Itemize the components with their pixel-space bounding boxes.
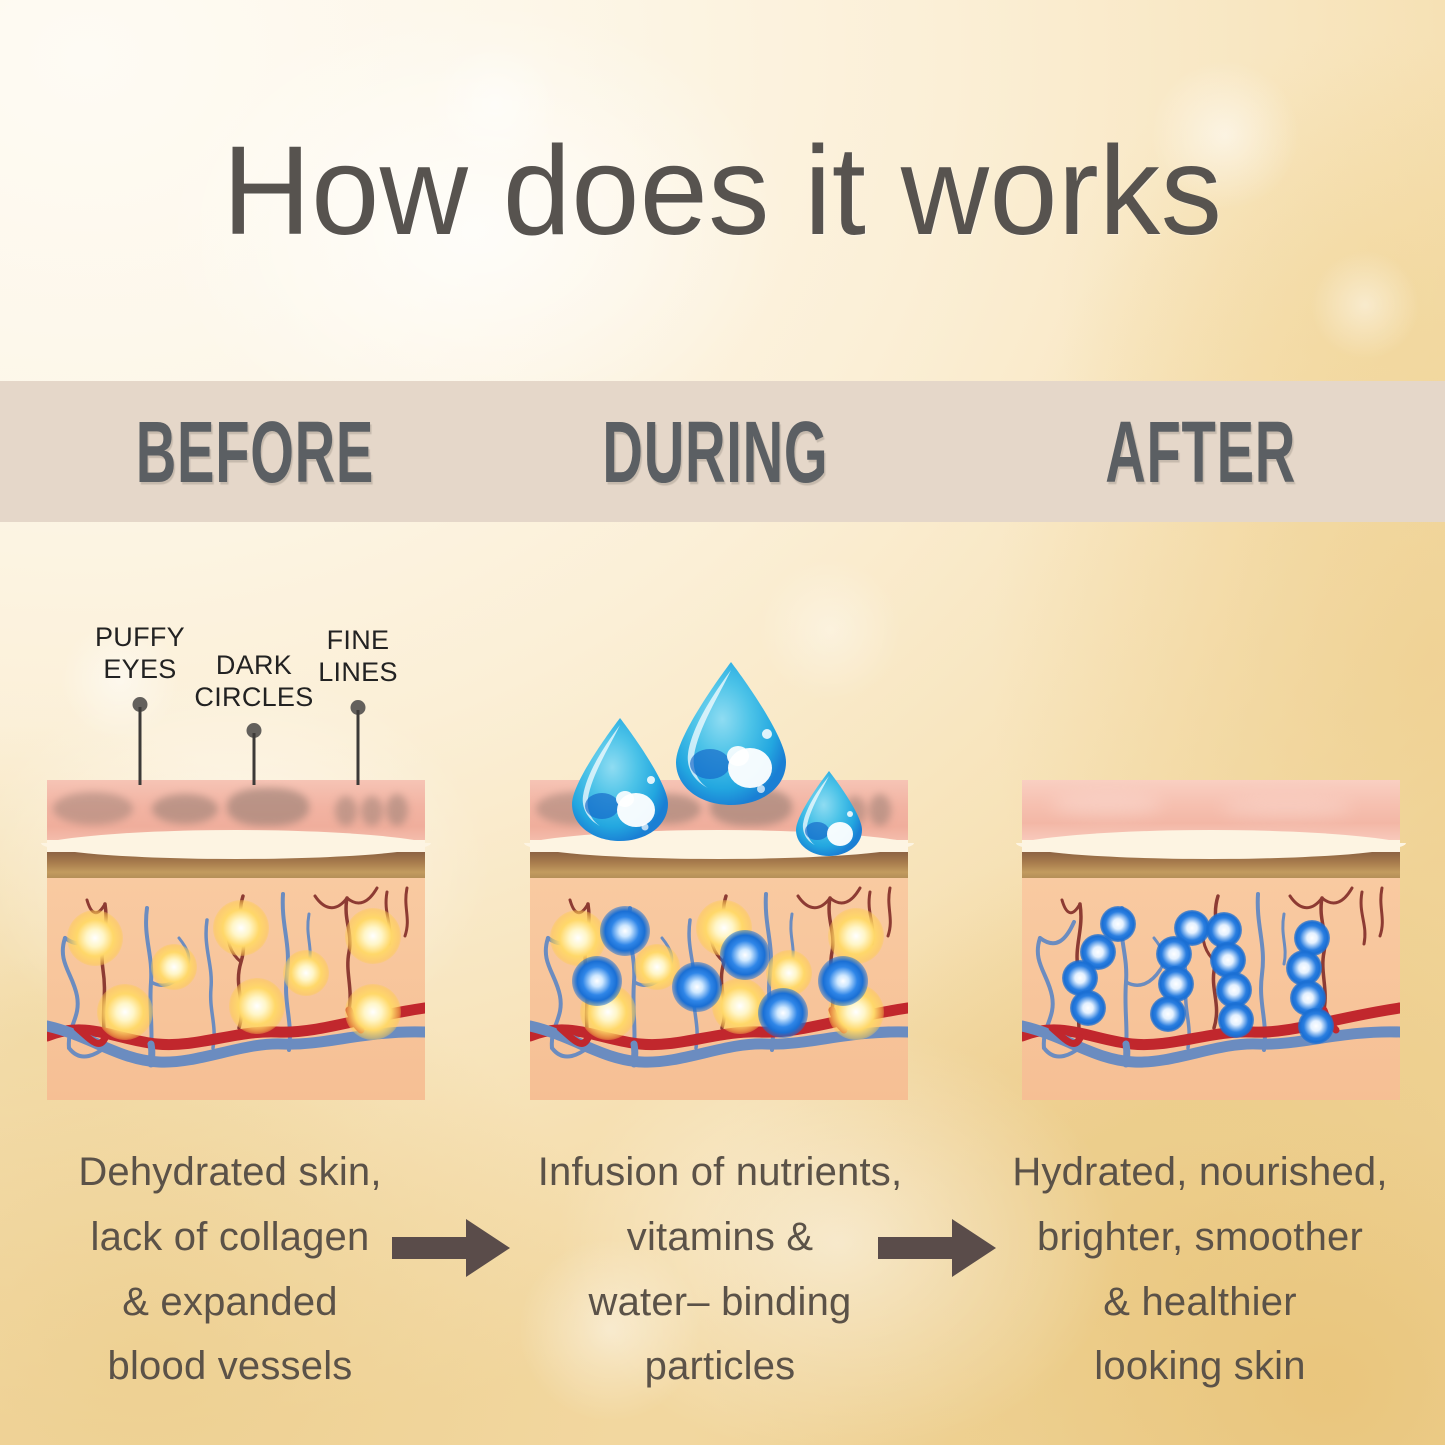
page-title: How does it works: [223, 128, 1223, 254]
epidermis-blemish: [386, 794, 408, 826]
title-area: How does it works: [0, 0, 1445, 381]
nutrient-particle: [758, 988, 808, 1038]
callout-dark-circles-line: [253, 733, 256, 785]
dermis-layer-before: [47, 878, 425, 1100]
arrow-during-to-after-icon: [878, 1215, 998, 1281]
hydration-bead: [1070, 990, 1106, 1026]
collagen-glow: [345, 908, 401, 964]
collagen-glow: [345, 984, 401, 1040]
caption-before-line: blood vessels: [20, 1334, 440, 1399]
caption-during: Infusion of nutrients, vitamins & water–…: [500, 1140, 940, 1399]
basal-band-after: [1022, 852, 1400, 880]
caption-during-line: particles: [500, 1334, 940, 1399]
callout-fine-lines-line: [357, 710, 360, 785]
epidermis-blemish: [227, 788, 309, 826]
caption-after-line: Hydrated, nourished,: [975, 1140, 1425, 1205]
caption-during-line: Infusion of nutrients,: [500, 1140, 940, 1205]
epidermis-layer-after: [1022, 780, 1400, 840]
caption-after-line: brighter, smoother: [975, 1205, 1425, 1270]
panel-before: [47, 780, 425, 1100]
epidermis-sheen: [1052, 794, 1162, 816]
collagen-glow: [213, 900, 269, 956]
collagen-glow: [67, 910, 123, 966]
hydration-bead: [1298, 1008, 1334, 1044]
nutrient-particle: [572, 956, 622, 1006]
stage-label-during-text: DURING: [602, 408, 828, 495]
panel-after: [1022, 780, 1400, 1100]
collagen-glow: [97, 984, 153, 1040]
callout-puffy-eyes-line: [139, 707, 142, 785]
collagen-glow: [229, 978, 285, 1034]
epidermis-blemish: [869, 794, 891, 826]
collagen-glow: [828, 908, 884, 964]
callout-fine-lines-label: FINE LINES: [283, 625, 433, 689]
stage-label-after-text: AFTER: [1106, 408, 1297, 495]
skin-diagram-before: [47, 780, 425, 1100]
stage-label-during: DURING: [565, 408, 865, 495]
arrow-before-to-during-icon: [392, 1215, 512, 1281]
epidermis-sheen: [1222, 798, 1352, 818]
collagen-glow: [151, 944, 197, 990]
caption-during-line: water– binding: [500, 1270, 940, 1335]
panel-during: [530, 780, 908, 1100]
water-droplet-medium: [566, 714, 674, 844]
caption-before: Dehydrated skin, lack of collagen & expa…: [20, 1140, 440, 1399]
water-droplet-large: [668, 658, 794, 808]
caption-after-line: & healthier: [975, 1270, 1425, 1335]
skin-diagram-after: [1022, 780, 1400, 1100]
stage-label-before-text: BEFORE: [136, 408, 374, 495]
hydration-bead: [1150, 996, 1186, 1032]
stage-label-before: BEFORE: [71, 408, 436, 495]
epidermis-blemish: [53, 792, 133, 825]
caption-before-line: Dehydrated skin,: [20, 1140, 440, 1205]
hydration-bead: [1218, 1002, 1254, 1038]
epidermis-blemish: [152, 794, 218, 824]
epidermis-blemish: [361, 796, 383, 826]
epidermis-layer-before: [47, 780, 425, 840]
caption-after-line: looking skin: [975, 1334, 1425, 1399]
basal-band-before: [47, 852, 425, 880]
water-droplet-small: [792, 768, 866, 858]
stage-label-after: AFTER: [996, 408, 1372, 495]
dermis-layer-after: [1022, 878, 1400, 1100]
nutrient-particle: [600, 906, 650, 956]
caption-before-line: & expanded: [20, 1270, 440, 1335]
dermis-layer-during: [530, 878, 908, 1100]
caption-before-line: lack of collagen: [20, 1205, 440, 1270]
epidermis-blemish: [335, 796, 357, 826]
nutrient-particle: [818, 956, 868, 1006]
collagen-glow: [283, 950, 329, 996]
stage-banner: BEFORE DURING AFTER: [0, 381, 1445, 522]
caption-after: Hydrated, nourished, brighter, smoother …: [975, 1140, 1425, 1399]
caption-during-line: vitamins &: [500, 1205, 940, 1270]
nutrient-particle: [720, 930, 770, 980]
nutrient-particle: [672, 962, 722, 1012]
